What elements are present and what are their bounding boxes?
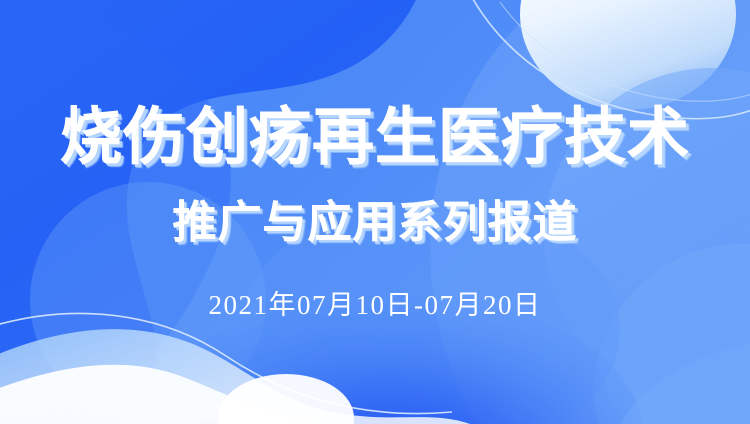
page-subtitle: 推广与应用系列报道 [0, 196, 750, 250]
page-title: 烧伤创疡再生医疗技术 [0, 102, 750, 174]
promo-banner: 烧伤创疡再生医疗技术 推广与应用系列报道 2021年07月10日-07月20日 [0, 0, 750, 424]
date-range-label: 2021年07月10日-07月20日 [0, 288, 750, 322]
text-layer: 烧伤创疡再生医疗技术 推广与应用系列报道 2021年07月10日-07月20日 [0, 0, 750, 424]
